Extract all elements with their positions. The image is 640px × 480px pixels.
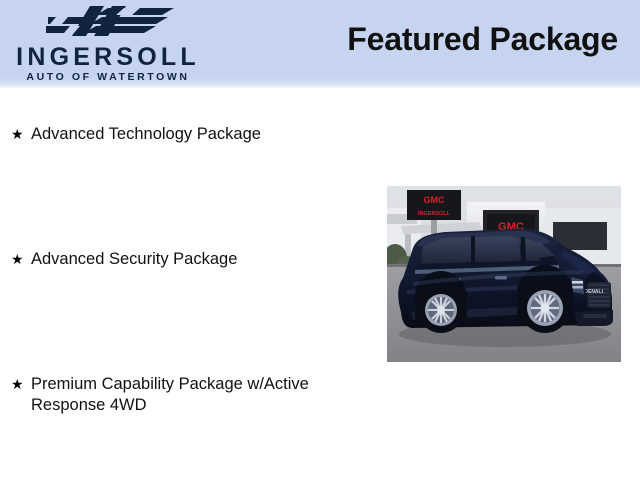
list-item: ★ Advanced Technology Package xyxy=(8,124,368,145)
list-item-label: Premium Capability Package w/Active Resp… xyxy=(31,375,309,414)
dealer-wordmark: INGERSOLL xyxy=(8,45,208,70)
sign-ingersoll: INGERSOLL xyxy=(418,211,451,217)
feature-package-list: ★ Advanced Technology Package ★ Advanced… xyxy=(8,124,368,416)
denali-grille-badge: DENALI xyxy=(584,289,603,295)
star-bullet-icon: ★ xyxy=(11,249,24,270)
dealer-logo: INGERSOLL AUTO OF WATERTOWN xyxy=(8,4,208,86)
list-item: ★ Advanced Security Package xyxy=(8,249,368,270)
list-item: ★ Premium Capability Package w/Active Re… xyxy=(8,374,368,416)
vehicle-photo: GMC INGERSOLL GMC xyxy=(387,186,621,362)
list-item-label: Advanced Technology Package xyxy=(31,125,261,143)
star-bullet-icon: ★ xyxy=(11,124,24,145)
star-bullet-icon: ★ xyxy=(11,374,24,395)
list-item-label: Advanced Security Package xyxy=(31,250,237,268)
dealer-subwordmark: AUTO OF WATERTOWN xyxy=(8,72,208,83)
ingersoll-winged-emblem-icon xyxy=(46,6,176,42)
page-title: Featured Package xyxy=(347,22,618,57)
sign-gmc-left: GMC xyxy=(424,195,445,205)
page-header: INGERSOLL AUTO OF WATERTOWN Featured Pac… xyxy=(0,0,640,88)
